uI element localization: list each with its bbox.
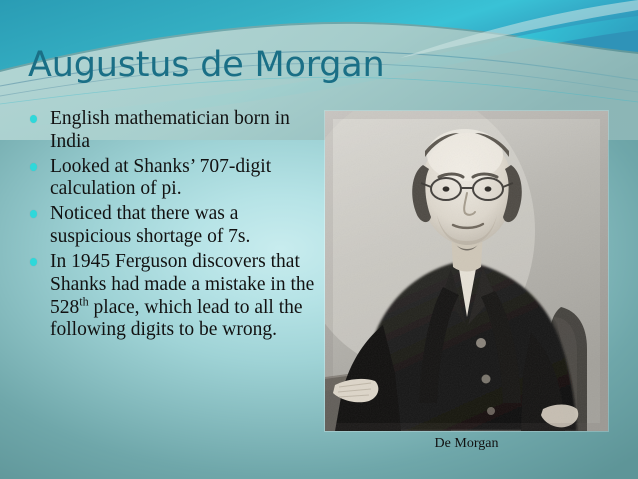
list-item: In 1945 Ferguson discovers that Shanks h… — [26, 251, 321, 342]
photo-caption: De Morgan — [325, 436, 608, 452]
bullet-marker-icon — [30, 210, 37, 218]
portrait-photo-image — [325, 111, 608, 431]
bullet-marker-icon — [30, 115, 37, 123]
ordinal-superscript: th — [79, 294, 88, 308]
list-item-text: Looked at Shanks’ 707-digit calculation … — [50, 156, 271, 200]
bullet-list: English mathematician born in India Look… — [26, 108, 321, 344]
portrait-photo — [325, 111, 608, 431]
list-item-text: Noticed that there was a suspicious shor… — [50, 203, 250, 247]
bullet-marker-icon — [30, 258, 37, 266]
list-item: English mathematician born in India — [26, 108, 321, 154]
list-item-text: English mathematician born in India — [50, 108, 290, 152]
list-item: Noticed that there was a suspicious shor… — [26, 203, 321, 249]
list-item-text-post: place, which lead to all the following d… — [50, 297, 303, 341]
presentation-slide: Augustus de Morgan English mathematician… — [0, 0, 638, 479]
page-title: Augustus de Morgan — [28, 47, 608, 84]
list-item: Looked at Shanks’ 707-digit calculation … — [26, 156, 321, 202]
bullet-marker-icon — [30, 163, 37, 171]
